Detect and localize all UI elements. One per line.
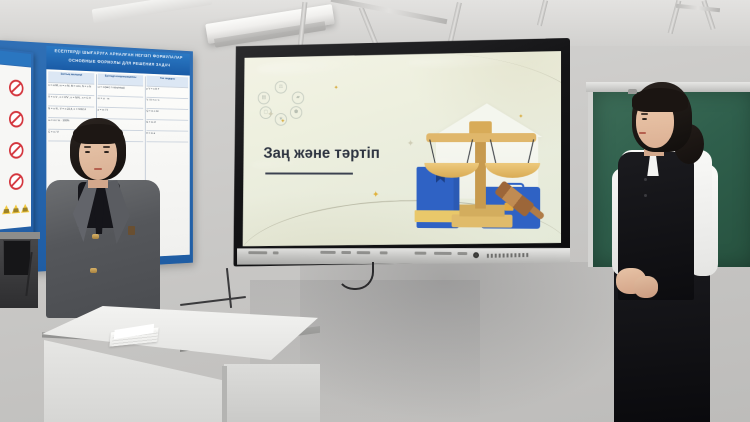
eyebrow xyxy=(103,146,110,148)
justice-illustration xyxy=(411,87,554,239)
no-flame-icon xyxy=(9,142,23,159)
warning-triangle-icon xyxy=(12,204,21,213)
desk-panel-side xyxy=(224,364,320,422)
no-entry-icon xyxy=(9,111,23,128)
display-screen[interactable]: ⚖ ▤ ▰ ▢ ⬟ ★ ✦ ✦ ✦ ✦ ✦ ✦ ✦ Заң және тәрті… xyxy=(243,51,561,249)
student-left xyxy=(44,118,162,318)
lips xyxy=(639,132,646,134)
blazer-button xyxy=(92,234,99,239)
desk-leg xyxy=(222,366,227,422)
sparkle-icon: ✦ xyxy=(334,84,339,93)
power-button[interactable] xyxy=(473,252,479,258)
sparkle-icon: ✦ xyxy=(280,118,285,127)
vest-button xyxy=(644,194,647,197)
no-smoking-icon xyxy=(9,79,23,97)
safety-poster-body xyxy=(0,64,31,229)
eyebrow xyxy=(641,113,648,115)
eyebrow xyxy=(84,146,91,148)
warning-triangle-icon xyxy=(21,204,29,213)
book-icon: ▤ xyxy=(258,92,270,105)
blazer-button xyxy=(90,268,97,273)
student-right-hand xyxy=(634,276,658,298)
safety-poster xyxy=(0,48,33,244)
interactive-display[interactable]: ⚖ ▤ ▰ ▢ ⬟ ★ ✦ ✦ ✦ ✦ ✦ ✦ ✦ Заң және тәрті… xyxy=(233,38,570,270)
student-right-hair-front xyxy=(632,88,688,112)
student-right xyxy=(596,82,724,422)
no-drinking-icon xyxy=(9,173,23,190)
balance-icon: ⚖ xyxy=(275,81,287,94)
shield-icon: ⬟ xyxy=(290,106,302,119)
sparkle-icon: ✦ xyxy=(372,190,379,199)
scales-beam xyxy=(426,133,536,142)
classroom-scene: ЕСЕПТЕРДІ ШЫҒАРУҒА АРНАЛҒАН НЕГІЗГІ ФОРМ… xyxy=(0,0,750,422)
blazer-emblem xyxy=(128,226,135,235)
slide-title-underline xyxy=(265,172,353,174)
vest-button xyxy=(644,178,647,181)
lips xyxy=(94,168,102,170)
shelf-top-surface xyxy=(0,232,40,239)
speaker-grille xyxy=(487,253,529,258)
monitor xyxy=(3,240,31,276)
gavel-icon: ▰ xyxy=(292,91,304,104)
sparkle-icon: ✦ xyxy=(267,110,274,119)
student-left-hair-front xyxy=(73,124,123,144)
warning-triangle-icon xyxy=(2,205,11,215)
